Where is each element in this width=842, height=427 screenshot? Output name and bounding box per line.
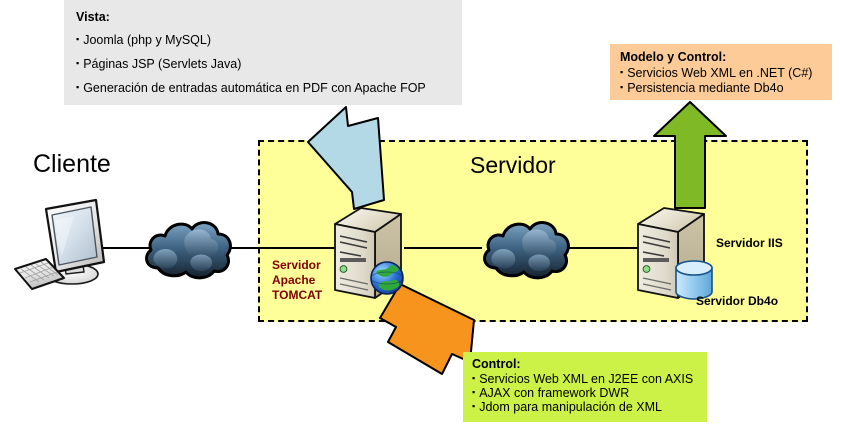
bullet-icon: ▪ xyxy=(472,401,475,411)
arrow-to-modelo xyxy=(652,100,728,212)
server-zone-title: Servidor xyxy=(470,152,556,179)
tomcat-label-line-3: TOMCAT xyxy=(272,288,322,303)
callout-control-item-3-text: Jdom para manipulación de XML xyxy=(479,400,662,414)
callout-vista-item-1-text: Joomla (php y MySQL) xyxy=(83,33,211,47)
bullet-icon: ▪ xyxy=(76,82,79,92)
callout-vista-item-3: ▪Generación de entradas automática en PD… xyxy=(76,82,462,95)
bullet-icon: ▪ xyxy=(76,58,79,68)
arrow-to-vista xyxy=(300,104,386,214)
bullet-icon: ▪ xyxy=(472,373,475,383)
iis-server-label: Servidor IIS xyxy=(716,236,783,251)
db4o-server-label: Servidor Db4o xyxy=(696,294,778,309)
network-cloud-icon xyxy=(142,214,234,284)
callout-control-item-1-text: Servicios Web XML en J2EE con AXIS xyxy=(479,372,693,386)
callout-modelo-title: Modelo y Control: xyxy=(620,50,832,64)
tomcat-server-label: Servidor Apache TOMCAT xyxy=(272,258,322,303)
server-tower-icon xyxy=(630,206,718,306)
callout-vista-item-2-text: Páginas JSP (Servlets Java) xyxy=(83,57,241,71)
bullet-icon: ▪ xyxy=(620,67,623,77)
callout-modelo-item-1-text: Servicios Web XML en .NET (C#) xyxy=(627,66,812,80)
callout-control-item-2: ▪AJAX con framework DWR xyxy=(472,387,707,400)
tomcat-label-line-2: Apache xyxy=(272,273,322,288)
callout-control-item-2-text: AJAX con framework DWR xyxy=(479,386,629,400)
callout-modelo-item-1: ▪Servicios Web XML en .NET (C#) xyxy=(620,67,832,80)
callout-modelo-item-2: ▪Persistencia mediante Db4o xyxy=(620,82,832,95)
callout-vista-item-2: ▪Páginas JSP (Servlets Java) xyxy=(76,58,462,71)
callout-control-title: Control: xyxy=(472,357,707,371)
callout-control-item-1: ▪Servicios Web XML en J2EE con AXIS xyxy=(472,373,707,386)
server-tower-icon xyxy=(327,206,407,306)
callout-vista-item-1: ▪Joomla (php y MySQL) xyxy=(76,34,462,47)
wire-cloudleft-tomcat xyxy=(228,247,341,249)
globe-icon xyxy=(371,262,403,294)
callout-modelo-control: Modelo y Control: ▪Servicios Web XML en … xyxy=(610,44,832,100)
diagram-canvas: Servidor Cliente xyxy=(0,0,842,427)
callout-vista: Vista: ▪Joomla (php y MySQL) ▪Páginas JS… xyxy=(64,0,462,105)
callout-vista-title: Vista: xyxy=(76,10,462,24)
network-cloud-icon xyxy=(480,214,572,284)
tomcat-label-line-1: Servidor xyxy=(272,258,322,273)
callout-control-item-3: ▪Jdom para manipulación de XML xyxy=(472,401,707,414)
bullet-icon: ▪ xyxy=(76,34,79,44)
wire-tomcat-cloudright xyxy=(404,247,482,249)
callout-control: Control: ▪Servicios Web XML en J2EE con … xyxy=(463,352,707,422)
bullet-icon: ▪ xyxy=(620,82,623,92)
client-zone-title: Cliente xyxy=(33,150,111,179)
callout-vista-item-3-text: Generación de entradas automática en PDF… xyxy=(83,81,426,95)
bullet-icon: ▪ xyxy=(472,387,475,397)
desktop-computer-icon xyxy=(12,196,120,292)
callout-modelo-item-2-text: Persistencia mediante Db4o xyxy=(627,81,783,95)
